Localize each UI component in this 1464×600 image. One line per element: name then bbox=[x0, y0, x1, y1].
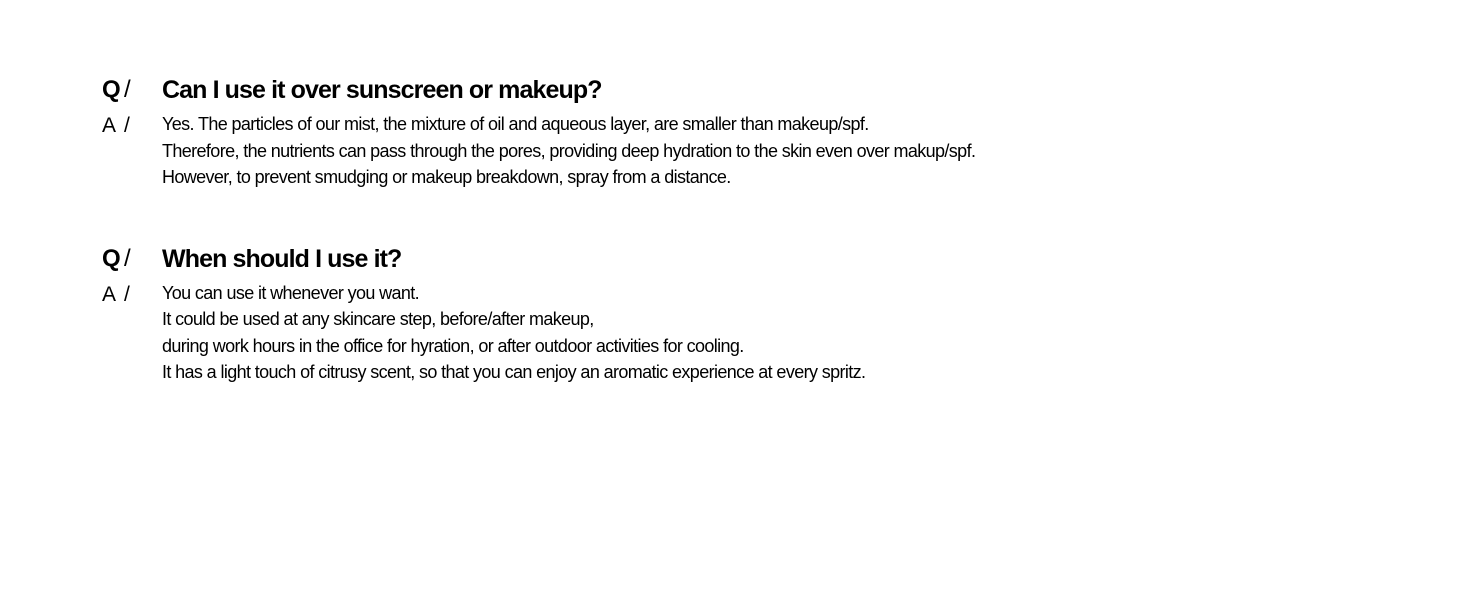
faq-answer-text: Yes. The particles of our mist, the mixt… bbox=[162, 111, 975, 191]
answer-line: It has a light touch of citrusy scent, s… bbox=[162, 359, 865, 386]
faq-question-text: Can I use it over sunscreen or makeup? bbox=[162, 75, 602, 105]
faq-question-text: When should I use it? bbox=[162, 244, 401, 274]
answer-separator-slash: / bbox=[124, 281, 130, 308]
faq-item: Q / Can I use it over sunscreen or makeu… bbox=[102, 75, 1464, 191]
answer-line: during work hours in the office for hyra… bbox=[162, 333, 865, 360]
question-letter: Q bbox=[102, 244, 124, 274]
faq-answer-row: A / Yes. The particles of our mist, the … bbox=[102, 111, 1464, 191]
answer-line: It could be used at any skincare step, b… bbox=[162, 306, 865, 333]
answer-line: Yes. The particles of our mist, the mixt… bbox=[162, 111, 975, 138]
question-letter: Q bbox=[102, 75, 124, 105]
faq-question-row: Q / Can I use it over sunscreen or makeu… bbox=[102, 75, 1464, 105]
faq-item: Q / When should I use it? A / You can us… bbox=[102, 244, 1464, 386]
answer-separator-slash: / bbox=[124, 112, 130, 139]
answer-line: Therefore, the nutrients can pass throug… bbox=[162, 138, 975, 165]
faq-answer-text: You can use it whenever you want. It cou… bbox=[162, 280, 865, 386]
answer-letter: A bbox=[102, 112, 124, 139]
answer-line: You can use it whenever you want. bbox=[162, 280, 865, 307]
answer-marker: A / bbox=[102, 281, 162, 308]
question-separator-slash: / bbox=[124, 75, 130, 105]
answer-line: However, to prevent smudging or makeup b… bbox=[162, 164, 975, 191]
faq-question-row: Q / When should I use it? bbox=[102, 244, 1464, 274]
question-separator-slash: / bbox=[124, 244, 130, 274]
faq-page: Q / Can I use it over sunscreen or makeu… bbox=[0, 0, 1464, 600]
faq-answer-row: A / You can use it whenever you want. It… bbox=[102, 280, 1464, 386]
question-marker: Q / bbox=[102, 75, 162, 105]
answer-marker: A / bbox=[102, 112, 162, 139]
question-marker: Q / bbox=[102, 244, 162, 274]
answer-letter: A bbox=[102, 281, 124, 308]
